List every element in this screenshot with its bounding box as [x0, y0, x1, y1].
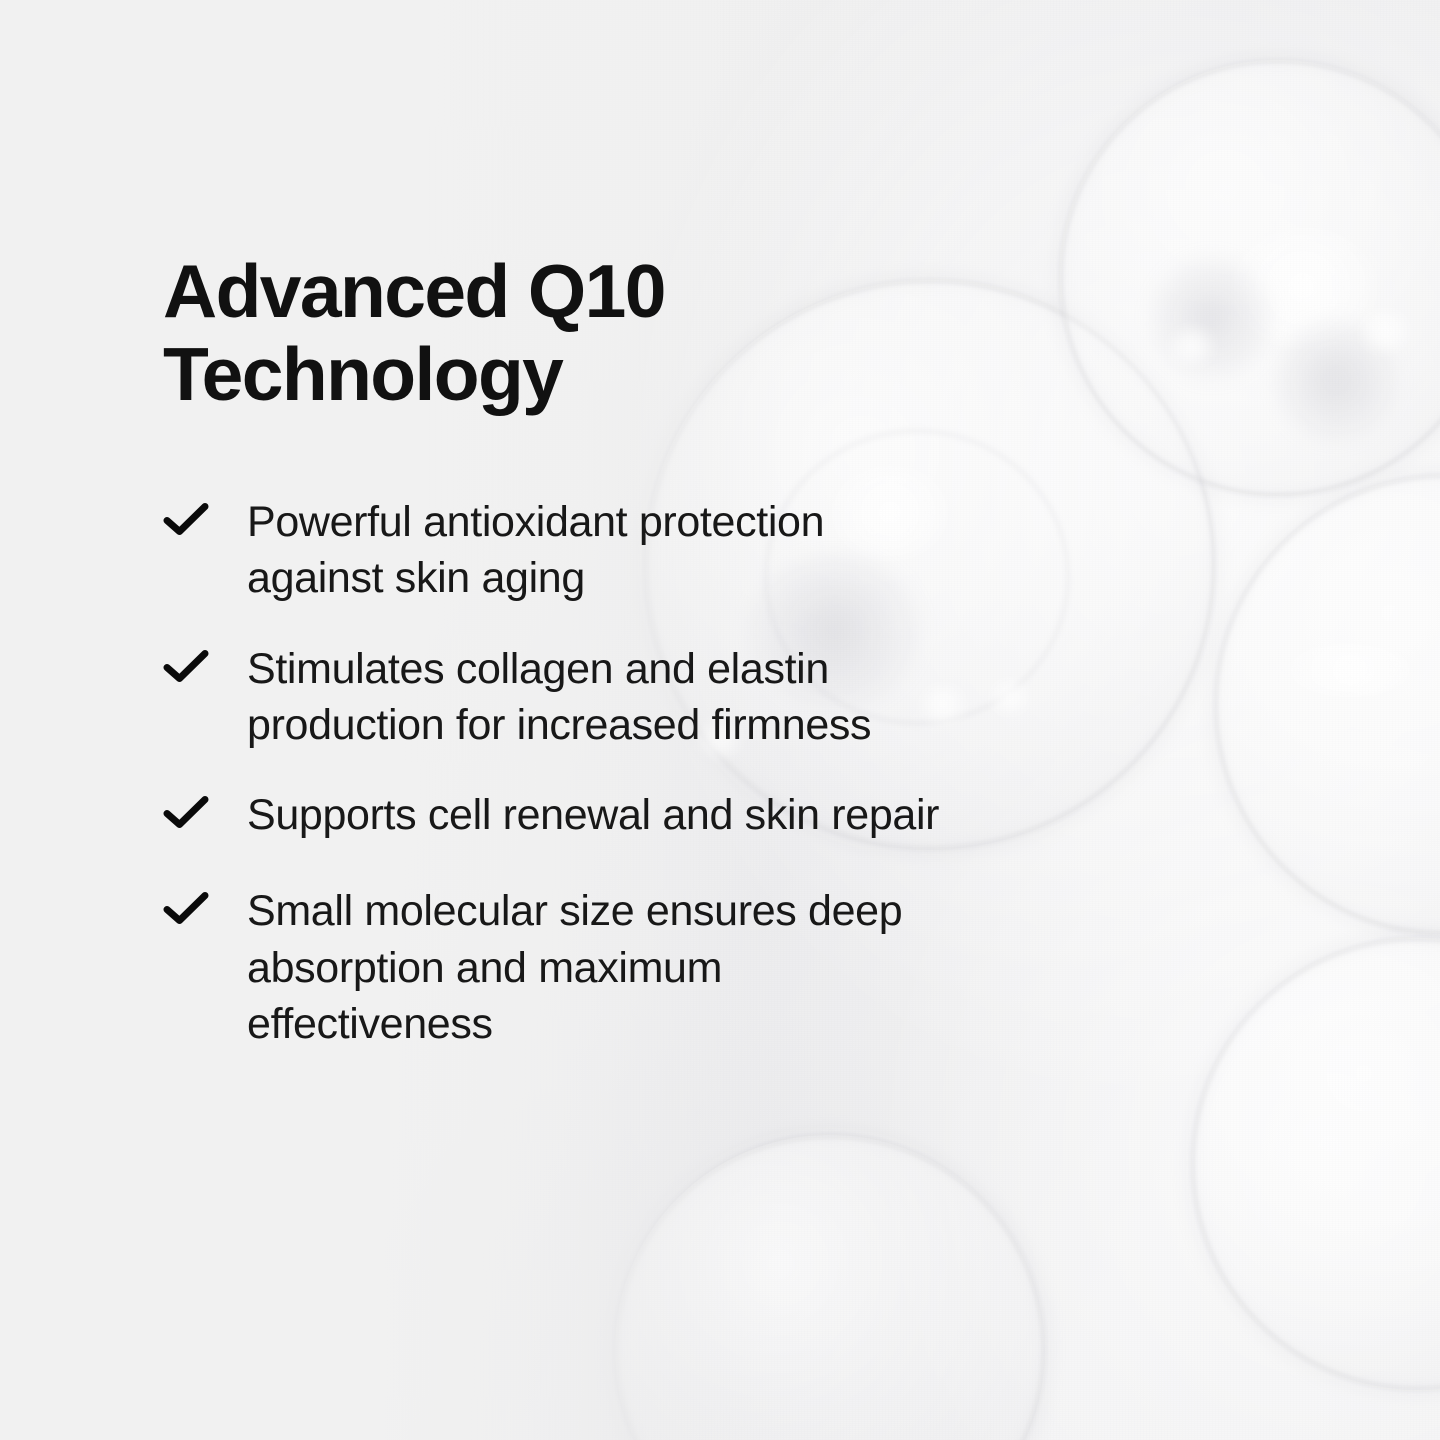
page-title: Advanced Q10 Technology: [163, 250, 863, 417]
promo-graphic: Advanced Q10 Technology Powerful antioxi…: [0, 0, 1440, 1440]
benefits-list: Powerful antioxidant protection against …: [163, 494, 1283, 1052]
check-icon: [163, 494, 209, 556]
list-item: Stimulates collagen and elastin producti…: [163, 641, 1283, 754]
benefit-text: Supports cell renewal and skin repair: [247, 787, 1267, 843]
check-icon: [163, 787, 209, 849]
benefit-text: Powerful antioxidant protection against …: [247, 494, 1267, 607]
list-item: Small molecular size ensures deep absorp…: [163, 883, 1283, 1052]
list-item: Supports cell renewal and skin repair: [163, 787, 1283, 849]
check-icon: [163, 641, 209, 703]
list-item: Powerful antioxidant protection against …: [163, 494, 1283, 607]
check-icon: [163, 883, 209, 945]
benefit-text: Stimulates collagen and elastin producti…: [247, 641, 1267, 754]
content-column: Advanced Q10 Technology Powerful antioxi…: [163, 0, 1303, 1440]
benefit-text: Small molecular size ensures deep absorp…: [247, 883, 1267, 1052]
